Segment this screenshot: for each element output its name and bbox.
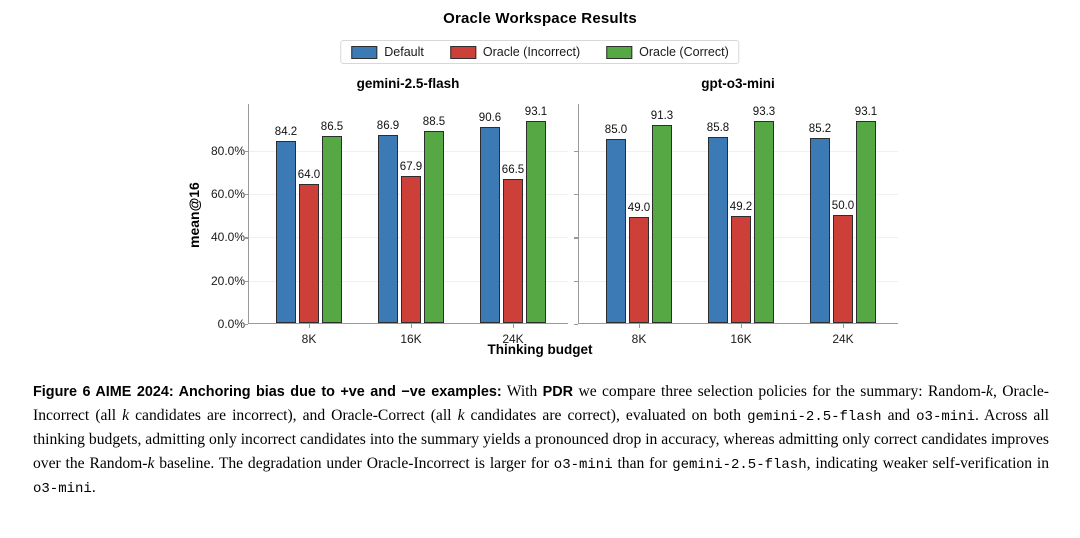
bar[interactable] [731, 216, 751, 323]
caption-text-6: and [882, 407, 917, 424]
x-axis-tick-mark [843, 324, 844, 328]
caption-model-o3-1: o3-mini [916, 409, 975, 425]
plot-area: mean@16 0.0%20.0%40.0%60.0%80.0% gemini-… [0, 90, 1080, 360]
bar[interactable] [810, 138, 830, 323]
legend-color-swatch [351, 46, 377, 59]
bar-value-label: 49.2 [730, 201, 752, 213]
bar-value-label: 66.5 [502, 164, 524, 176]
caption-text-9: than for [613, 455, 673, 472]
x-axis-tick-mark [741, 324, 742, 328]
bar-value-label: 84.2 [275, 126, 297, 138]
bar[interactable] [276, 141, 296, 323]
bar-value-label: 86.5 [321, 121, 343, 133]
bar-value-label: 67.9 [400, 161, 422, 173]
subplot-title: gemini-2.5-flash [248, 76, 568, 91]
bar[interactable] [606, 139, 626, 323]
bar-value-label: 50.0 [832, 200, 854, 212]
caption-text-4: candidates are incorrect), and Oracle-Co… [129, 407, 457, 424]
bar[interactable] [503, 179, 523, 323]
y-axis-tick-label: 40.0% [211, 230, 245, 244]
bar[interactable] [652, 125, 672, 323]
bar[interactable] [833, 215, 853, 323]
legend-entry[interactable]: Oracle (Correct) [606, 45, 729, 59]
bar-value-label: 64.0 [298, 169, 320, 181]
x-axis-tick-mark [513, 324, 514, 328]
x-axis-label: Thinking budget [0, 342, 1080, 357]
caption-model-gemini-1: gemini-2.5-flash [747, 409, 881, 425]
caption-text-5: candidates are correct), evaluated on bo… [464, 407, 747, 424]
y-axis-tick-label: 0.0% [218, 317, 245, 331]
caption-text-11: . [92, 479, 96, 496]
bar[interactable] [401, 176, 421, 323]
axes: 84.264.086.586.967.988.590.666.593.1 [248, 104, 568, 324]
bar-value-label: 90.6 [479, 112, 501, 124]
legend-label: Oracle (Incorrect) [483, 45, 580, 59]
caption-text-2: we compare three selection policies for … [573, 383, 986, 400]
legend-entry[interactable]: Default [351, 45, 424, 59]
x-axis-tick-mark [639, 324, 640, 328]
caption-k-1: k [986, 383, 993, 400]
bar[interactable] [708, 137, 728, 323]
caption-model-gemini-2: gemini-2.5-flash [672, 457, 806, 473]
axes: 85.049.091.385.849.293.385.250.093.1 [578, 104, 898, 324]
legend-color-swatch [606, 46, 632, 59]
bar[interactable] [856, 121, 876, 323]
bar[interactable] [424, 131, 444, 323]
bar-value-label: 93.1 [855, 106, 877, 118]
bar[interactable] [299, 184, 319, 323]
legend-color-swatch [450, 46, 476, 59]
bar[interactable] [322, 136, 342, 323]
caption-text-1: With [502, 383, 543, 400]
legend-entry[interactable]: Oracle (Incorrect) [450, 45, 580, 59]
bar[interactable] [378, 135, 398, 323]
bar-value-label: 91.3 [651, 110, 673, 122]
bar-value-label: 85.8 [707, 122, 729, 134]
caption-text-10: , indicating weaker self-verification in [807, 455, 1049, 472]
bar-value-label: 86.9 [377, 120, 399, 132]
caption-pdr: PDR [543, 384, 573, 400]
bar[interactable] [526, 121, 546, 323]
caption-text-8: baseline. The degradation under Oracle-I… [154, 455, 553, 472]
bar-value-label: 85.2 [809, 123, 831, 135]
subplot-title: gpt-o3-mini [578, 76, 898, 91]
bar-value-label: 93.3 [753, 106, 775, 118]
y-axis-tick-label: 20.0% [211, 274, 245, 288]
bar[interactable] [629, 217, 649, 323]
y-axis-tick-mark [574, 324, 578, 325]
legend-label: Oracle (Correct) [639, 45, 729, 59]
bar-value-label: 88.5 [423, 116, 445, 128]
bar[interactable] [480, 127, 500, 323]
bar-value-label: 85.0 [605, 124, 627, 136]
subplot-2: gpt-o3-mini85.049.091.385.849.293.385.25… [578, 90, 898, 360]
subplot-1: gemini-2.5-flash84.264.086.586.967.988.5… [248, 90, 568, 360]
figure-container: Oracle Workspace Results DefaultOracle (… [0, 0, 1080, 538]
y-axis-tick-labels: 0.0%20.0%40.0%60.0%80.0% [199, 90, 245, 360]
figure-caption: Figure 6 AIME 2024: Anchoring bias due t… [33, 380, 1049, 500]
caption-lead: Figure 6 AIME 2024: Anchoring bias due t… [33, 384, 502, 400]
y-axis-tick-mark [244, 324, 248, 325]
figure-title: Oracle Workspace Results [0, 10, 1080, 27]
y-axis-tick-label: 60.0% [211, 187, 245, 201]
bar-value-label: 93.1 [525, 106, 547, 118]
bars-layer: 84.264.086.586.967.988.590.666.593.1 [248, 104, 568, 324]
caption-model-o3-2: o3-mini [554, 457, 613, 473]
x-axis-tick-mark [411, 324, 412, 328]
x-axis-tick-mark [309, 324, 310, 328]
y-axis-tick-label: 80.0% [211, 144, 245, 158]
bar-value-label: 49.0 [628, 202, 650, 214]
bar[interactable] [754, 121, 774, 323]
legend-label: Default [384, 45, 424, 59]
chart-legend: DefaultOracle (Incorrect)Oracle (Correct… [340, 40, 739, 64]
bars-layer: 85.049.091.385.849.293.385.250.093.1 [578, 104, 898, 324]
caption-model-o3-3: o3-mini [33, 481, 92, 497]
